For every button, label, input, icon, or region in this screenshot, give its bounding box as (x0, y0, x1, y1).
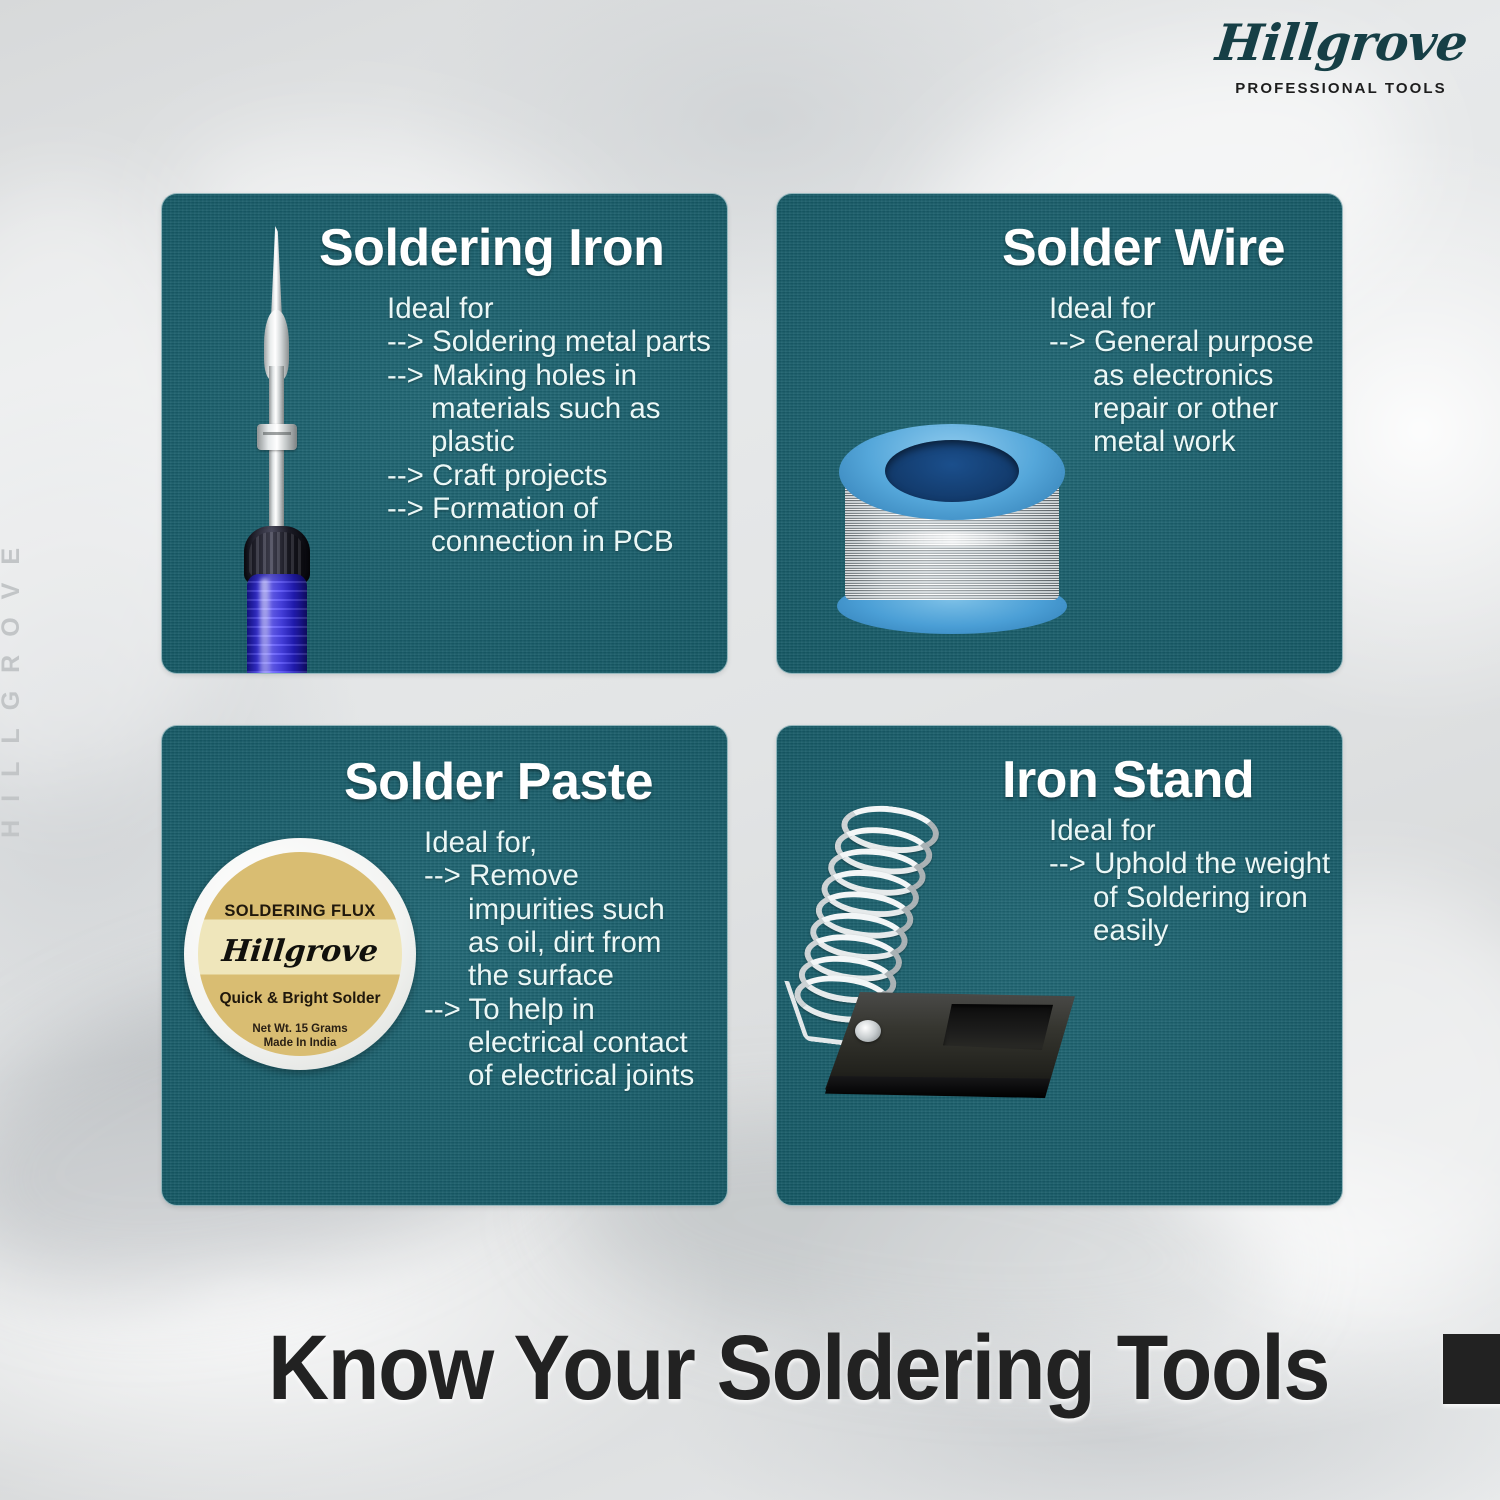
card-body: Ideal for --> Uphold the weight of Solde… (1049, 814, 1330, 947)
card-line: --> Remove (424, 859, 694, 892)
tin-label-tagline: Quick & Bright Solder (198, 990, 402, 1008)
iron-stand-image (795, 804, 1085, 1104)
card-line: of Soldering iron (1049, 881, 1330, 914)
tin-label-net-weight: Net Wt. 15 Grams (252, 1023, 347, 1035)
card-iron-stand: Iron Stand Ideal for --> Uphold the weig… (776, 725, 1343, 1206)
card-line: impurities such (424, 893, 694, 926)
card-line: --> To help in (424, 993, 694, 1026)
card-line: --> Soldering metal parts (387, 325, 711, 358)
iron-shaft (269, 366, 284, 541)
stand-base-edge (825, 1076, 1075, 1098)
tin-label-origin: Made In India (264, 1037, 337, 1049)
card-line: Ideal for (1049, 814, 1330, 847)
card-soldering-iron: Soldering Iron Ideal for --> Soldering m… (161, 193, 728, 674)
iron-nut (257, 424, 297, 450)
brand-logo-wordmark: Hillgrove (1213, 18, 1468, 68)
solder-wire-spool-image (837, 424, 1067, 634)
brand-logo: Hillgrove PROFESSIONAL TOOLS (1216, 18, 1466, 97)
footer-headline: Know Your Soldering Tools (268, 1322, 1329, 1414)
tin-label-brand: Hillgrove (198, 934, 402, 969)
tin-label: SOLDERING FLUX Hillgrove Quick & Bright … (198, 852, 402, 1056)
card-title: Solder Wire (1002, 222, 1285, 274)
card-line: plastic (387, 425, 711, 458)
iron-handle-highlight (260, 578, 269, 674)
spool-highlight (851, 532, 1053, 546)
brand-logo-tagline: PROFESSIONAL TOOLS (1216, 80, 1466, 97)
card-title: Iron Stand (1002, 754, 1254, 806)
card-body: Ideal for, --> Remove impurities such as… (424, 826, 694, 1093)
card-line: metal work (1049, 425, 1314, 458)
card-line: connection in PCB (387, 525, 711, 558)
side-watermark: HILLGROVE (0, 530, 26, 838)
footer-accent-block (1443, 1334, 1500, 1404)
card-line: --> Making holes in (387, 359, 711, 392)
card-line: repair or other (1049, 392, 1314, 425)
card-line: the surface (424, 959, 694, 992)
card-body: Ideal for --> General purpose as electro… (1049, 292, 1314, 459)
card-line: materials such as (387, 392, 711, 425)
card-body: Ideal for --> Soldering metal parts --> … (387, 292, 711, 559)
spool-center-hole (885, 440, 1019, 502)
iron-tip (271, 226, 282, 318)
stand-screw (855, 1020, 881, 1042)
card-solder-paste: SOLDERING FLUX Hillgrove Quick & Bright … (161, 725, 728, 1206)
card-line: Ideal for (1049, 292, 1314, 325)
tin-label-product: SOLDERING FLUX (198, 902, 402, 921)
infographic-page: Hillgrove PROFESSIONAL TOOLS HILLGROVE S… (0, 0, 1500, 1500)
card-line: --> General purpose (1049, 325, 1314, 358)
soldering-iron-image (217, 226, 337, 651)
card-title: Soldering Iron (319, 222, 664, 274)
solder-paste-tin-image: SOLDERING FLUX Hillgrove Quick & Bright … (184, 838, 416, 1070)
card-line: as electronics (1049, 359, 1314, 392)
product-card-grid: Soldering Iron Ideal for --> Soldering m… (161, 193, 1341, 1204)
stand-sponge-tray (943, 1004, 1053, 1050)
card-line: electrical contact (424, 1026, 694, 1059)
card-line: easily (1049, 914, 1330, 947)
card-line: as oil, dirt from (424, 926, 694, 959)
tin-label-weight: Net Wt. 15 Grams Made In India (198, 1022, 402, 1051)
card-line: of electrical joints (424, 1059, 694, 1092)
card-line: Ideal for (387, 292, 711, 325)
card-line: Ideal for, (424, 826, 694, 859)
card-line: --> Craft projects (387, 459, 711, 492)
iron-handle (247, 574, 307, 674)
stand-coil-spring (792, 797, 937, 1025)
card-line: --> Uphold the weight (1049, 847, 1330, 880)
card-title: Solder Paste (344, 756, 653, 808)
card-solder-wire: Solder Wire Ideal for --> General purpos… (776, 193, 1343, 674)
card-line: --> Formation of (387, 492, 711, 525)
